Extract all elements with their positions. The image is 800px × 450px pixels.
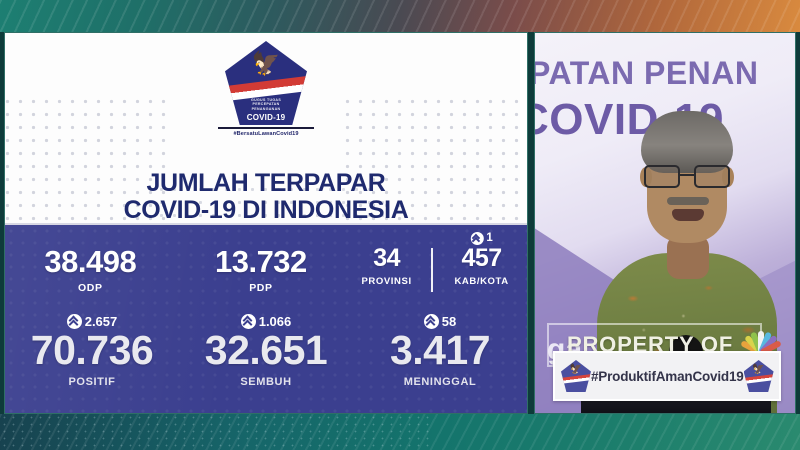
garuda-eagle-icon: 🦅 [249,50,283,76]
lens-left [644,165,680,188]
podium [581,399,771,414]
top-band-stripes [0,0,800,32]
logo-inner-text: GUGUS TUGAS PERCEPATAN PENANGANAN COVID-… [225,98,307,122]
stat-meninggal: 58 3.417 MENINGGAL [353,313,527,413]
stat-kabkota-value: 457 [440,246,524,271]
infographic-header: 🦅 GUGUS TUGAS PERCEPATAN PENANGANAN COVI… [5,33,527,223]
stat-positif: 2.657 70.736 POSITIF [5,313,179,413]
chevron-up-badge-icon [241,314,256,329]
mini-garuda-icon-right: 🦅 [752,364,764,375]
stat-odp-label: ODP [5,282,176,294]
mini-garuda-icon-left: 🦅 [570,364,582,375]
hair [641,111,733,173]
stat-odp: 38.498 ODP [5,233,176,311]
pentagon-shield-icon: 🦅 GUGUS TUGAS PERCEPATAN PENANGANAN COVI… [225,41,307,125]
lens-right [694,165,730,188]
live-video-panel: PATAN PENAN COVID-19 ga PROPERTY OF [534,32,796,414]
mouth [672,209,704,221]
stat-pdp: 13.732 PDP [176,233,347,311]
stat-pdp-label: PDP [176,282,347,294]
stat-positif-label: POSITIF [5,376,179,388]
stat-odp-value: 38.498 [5,246,176,277]
mini-flag-stripe-right [741,374,775,384]
glasses-bridge [680,174,694,176]
produktif-aman-banner: 🦅 #ProduktifAmanCovid19 🦅 [553,351,781,401]
stat-meninggal-label: MENINGGAL [353,376,527,388]
logo-covid-text: COVID-19 [225,113,307,122]
logo-underline-divider [218,127,314,129]
page-title-line-1: JUMLAH TERPAPAR [5,170,527,197]
stat-provinsi-label: PROVINSI [350,276,424,287]
stat-sembuh: 1.066 32.651 SEMBUH [179,313,353,413]
stat-kabkota: 1 457 KAB/KOTA [440,246,524,287]
stats-row-top: 38.498 ODP 13.732 PDP 34 PROVINSI 1 [5,233,527,311]
stat-pdp-value: 13.732 [176,246,347,277]
stat-kabkota-delta: 1 [470,232,492,245]
stat-meninggal-value: 3.417 [353,330,527,371]
chevron-up-badge-icon [470,232,483,245]
produktif-aman-hashtag-text: #ProduktifAmanCovid19 [591,369,744,384]
stat-sembuh-label: SEMBUH [179,376,353,388]
title-block: JUMLAH TERPAPAR COVID-19 DI INDONESIA Up… [5,170,527,223]
eyeglasses-icon [642,165,732,188]
bersatu-lawan-hashtag: #BersatuLawanCovid19 [218,131,314,137]
mini-pentagon-logo-right: 🦅 [744,360,774,392]
chevron-up-badge-icon [67,314,82,329]
stat-kabkota-delta-value: 1 [486,233,492,245]
statistics-panel: 38.498 ODP 13.732 PDP 34 PROVINSI 1 [5,223,527,414]
stat-provinsi: 34 PROVINSI [350,246,424,287]
mini-pentagon-logo-left: 🦅 [561,360,591,392]
gugus-tugas-logo: 🦅 GUGUS TUGAS PERCEPATAN PENANGANAN COVI… [218,41,314,137]
top-gradient-band [0,0,800,32]
bottom-gradient-band [0,414,800,450]
bottom-band-speckle [0,414,430,450]
stat-sembuh-value: 32.651 [179,330,353,371]
region-divider [431,248,433,292]
stat-provinsi-value: 34 [350,246,424,271]
stat-kabkota-label: KAB/KOTA [440,276,524,287]
peacock-logo-icon [738,325,782,353]
mustache [667,197,709,205]
page-title-line-2: COVID-19 DI INDONESIA [5,197,527,223]
chevron-up-badge-icon [424,314,439,329]
covid-infographic-card: 🦅 GUGUS TUGAS PERCEPATAN PENANGANAN COVI… [4,32,528,414]
logo-small-line-3: PENANGANAN [225,107,307,111]
stats-row-bottom: 2.657 70.736 POSITIF 1.066 32.651 SEMBUH [5,313,527,413]
mini-flag-stripe-left [559,374,593,384]
region-stats-group: 34 PROVINSI 1 457 KAB/KOTA [346,233,527,311]
stat-positif-value: 70.736 [5,330,179,371]
